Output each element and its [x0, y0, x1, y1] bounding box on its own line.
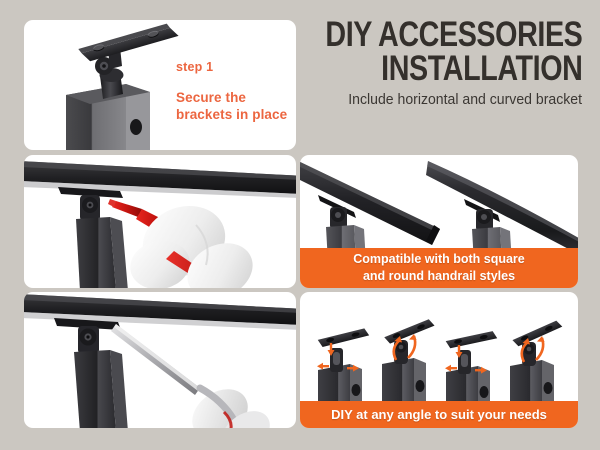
- mounting-plate: [78, 21, 178, 63]
- panel-handrail-compatibility: Compatible with both square and round ha…: [300, 155, 578, 288]
- step-1-text: step 1 Secure the brackets in place: [176, 60, 294, 124]
- panel-angle-variants: DIY at any angle to suit your needs: [300, 292, 578, 428]
- banner-rails-line-2: and round handrail styles: [363, 268, 515, 285]
- header-title-block: DIY ACCESSORIES INSTALLATION Include hor…: [300, 18, 590, 130]
- step-1-label: step 1: [176, 60, 294, 74]
- angle-post-2: [382, 318, 435, 408]
- angle-post-4: [510, 319, 562, 408]
- infographic-canvas: step 1 Secure the brackets in place: [0, 0, 600, 450]
- panel-step-2: step 2 Mark and drill holes (adjust the …: [24, 155, 296, 288]
- step-1-main-line-1: Secure the: [176, 90, 294, 107]
- page-title-line-2: INSTALLATION: [381, 52, 582, 86]
- square-post: [74, 350, 128, 428]
- step-2-illustration: [24, 155, 296, 288]
- banner-angles-line-1: DIY at any angle to suit your needs: [331, 407, 547, 422]
- step-1-main-line-2: brackets in place: [176, 107, 294, 124]
- banner-angle-variants: DIY at any angle to suit your needs: [300, 401, 578, 428]
- step-1-main: Secure the brackets in place: [176, 90, 294, 124]
- panel-step-1: step 1 Secure the brackets in place: [24, 20, 296, 150]
- angle-post-1: [317, 328, 369, 408]
- hand-with-marker: [108, 195, 262, 288]
- banner-rails-line-1: Compatible with both square: [353, 251, 525, 268]
- page-subtitle: Include horizontal and curved bracket: [348, 92, 582, 108]
- angle-post-3: [445, 330, 497, 408]
- screwdriver-and-hand: [111, 324, 278, 428]
- square-post: [76, 217, 128, 288]
- panel-step-3: Secure with self-tapping screws step 3: [24, 292, 296, 428]
- banner-handrail-compatibility: Compatible with both square and round ha…: [300, 248, 578, 288]
- swivel-joint: [78, 326, 99, 354]
- step-3-illustration: [24, 292, 296, 428]
- page-title-line-1: DIY ACCESSORIES: [325, 18, 582, 52]
- swivel-joint: [80, 195, 100, 221]
